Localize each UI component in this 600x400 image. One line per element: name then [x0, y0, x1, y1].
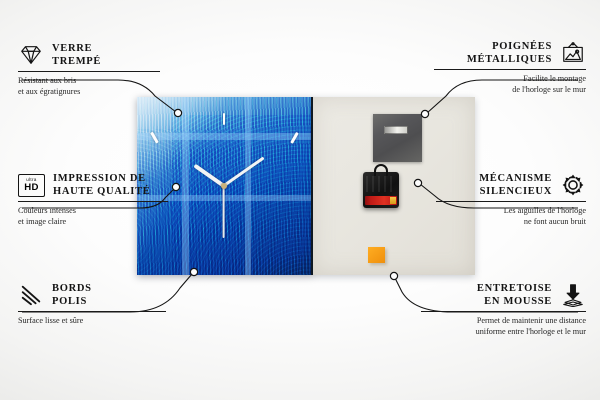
connector-dot-impression [172, 183, 179, 190]
feature-divider [436, 201, 586, 202]
feature-divider [18, 71, 160, 72]
connector-dot-verre-trempe [174, 109, 181, 116]
foam-spacer-icon [560, 283, 586, 307]
feature-header: ENTRETOISE EN MOUSSE [421, 282, 586, 308]
ultra-hd-icon: ultra HD [18, 174, 45, 197]
infographic-canvas: VERRE TREMPÉ Résistant aux bris et aux é… [0, 0, 600, 400]
feature-description: Résistant aux bris et aux égratignures [18, 75, 160, 97]
feature-divider [434, 69, 586, 70]
feature-description: Permet de maintenir une distance uniform… [421, 315, 586, 337]
feature-title: BORDS POLIS [52, 282, 92, 308]
feature-title: POIGNÉES MÉTALLIQUES [467, 40, 552, 66]
wall-hanger-icon [560, 41, 586, 65]
feature-poignees-metalliques: POIGNÉES MÉTALLIQUES Facilite le montage… [434, 40, 586, 95]
feature-description: Surface lisse et sûre [18, 315, 166, 326]
feature-title: ENTRETOISE EN MOUSSE [477, 282, 552, 308]
feature-divider [18, 311, 166, 312]
feature-divider [18, 201, 168, 202]
feature-header: MÉCANISME SILENCIEUX [436, 172, 586, 198]
feature-description: Les aiguilles de l'horloge ne font aucun… [436, 205, 586, 227]
feature-divider [421, 311, 586, 312]
feature-description: Couleurs intenses et image claire [18, 205, 168, 227]
feature-mecanisme-silencieux: MÉCANISME SILENCIEUX Les aiguilles de l'… [436, 172, 586, 227]
feature-title: IMPRESSION DE HAUTE QUALITÉ [53, 172, 151, 198]
polished-edges-icon [18, 283, 44, 307]
feature-bords-polis: BORDS POLIS Surface lisse et sûre [18, 282, 166, 326]
feature-header: ultra HD IMPRESSION DE HAUTE QUALITÉ [18, 172, 168, 198]
ultra-hd-icon-large-text: HD [24, 183, 38, 193]
feature-header: BORDS POLIS [18, 282, 166, 308]
feature-impression-haute-qualite: ultra HD IMPRESSION DE HAUTE QUALITÉ Cou… [18, 172, 168, 227]
feature-title: VERRE TREMPÉ [52, 42, 101, 68]
feature-header: VERRE TREMPÉ [18, 42, 160, 68]
connector-dot-mecanisme [414, 179, 421, 186]
connector-dot-poignees [421, 110, 428, 117]
feature-entretoise-en-mousse: ENTRETOISE EN MOUSSE Permet de maintenir… [421, 282, 586, 337]
feature-title: MÉCANISME SILENCIEUX [479, 172, 552, 198]
feature-header: POIGNÉES MÉTALLIQUES [434, 40, 586, 66]
gear-icon [560, 173, 586, 197]
diamond-icon [18, 43, 44, 67]
feature-description: Facilite le montage de l'horloge sur le … [434, 73, 586, 95]
connector-dot-entretoise [390, 272, 397, 279]
connector-dot-bords-polis [190, 268, 197, 275]
feature-verre-trempe: VERRE TREMPÉ Résistant aux bris et aux é… [18, 42, 160, 97]
